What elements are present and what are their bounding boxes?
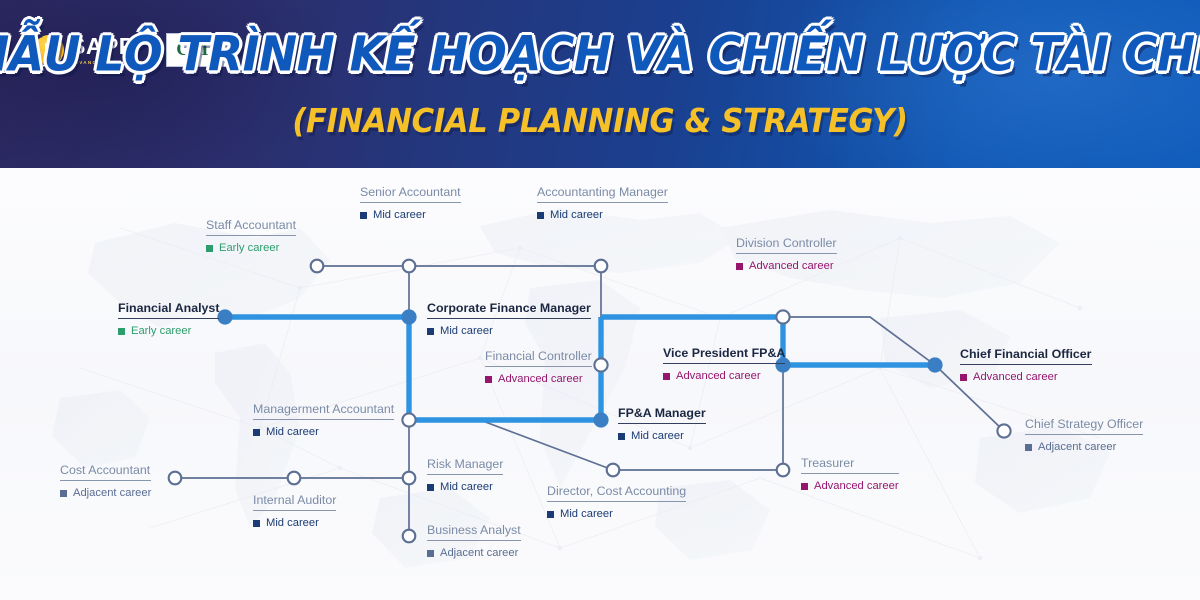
label-financial-analyst[interactable]: Financial Analyst Early career (118, 301, 219, 337)
page-subtitle: (FINANCIAL PLANNING & STRATEGY) (0, 102, 1200, 141)
node-director-cost-accounting[interactable] (607, 464, 620, 477)
edge-division-controller-to-cfo (783, 317, 935, 365)
node-managerment-accountant[interactable] (402, 413, 415, 426)
label-business-analyst[interactable]: Business Analyst Adjacent career (427, 523, 521, 559)
node-division-controller[interactable] (776, 310, 789, 323)
node-chief-financial-officer[interactable] (927, 357, 942, 372)
tier-swatch-mid (427, 484, 434, 491)
label-fpa-manager[interactable]: FP&A Manager Mid career (618, 406, 706, 442)
node-internal-auditor[interactable] (288, 472, 301, 485)
label-treasurer[interactable]: Treasurer Advanced career (801, 456, 899, 492)
label-vice-president-fpa[interactable]: Vice President FP&A Advanced career (663, 346, 785, 382)
tier-swatch-mid (360, 212, 367, 219)
tier-swatch-mid (547, 511, 554, 518)
tier-swatch-mid (537, 212, 544, 219)
page-header: SAPP ADVANCE YOUR CAREER CMA® MẪU LỘ TRÌ… (0, 0, 1200, 168)
tier-swatch-advanced (736, 263, 743, 270)
label-staff-accountant[interactable]: Staff Accountant Early career (206, 218, 296, 254)
label-director-cost-accounting[interactable]: Director, Cost Accounting Mid career (547, 484, 686, 520)
node-cost-accountant[interactable] (169, 472, 182, 485)
title-block: MẪU LỘ TRÌNH KẾ HOẠCH VÀ CHIẾN LƯỢC TÀI … (0, 30, 1200, 139)
tier-swatch-advanced (801, 483, 808, 490)
tier-swatch-advanced (960, 374, 967, 381)
tier-swatch-adjacent (427, 550, 434, 557)
tier-swatch-advanced (663, 373, 670, 380)
tier-swatch-early (118, 328, 125, 335)
label-chief-strategy-officer[interactable]: Chief Strategy Officer Adjacent career (1025, 417, 1143, 453)
tier-swatch-mid (253, 429, 260, 436)
tier-swatch-mid (618, 433, 625, 440)
label-managerment-accountant[interactable]: Managerment Accountant Mid career (253, 402, 394, 438)
node-fpa-manager[interactable] (593, 412, 608, 427)
tier-swatch-advanced (485, 376, 492, 383)
label-corporate-finance-manager[interactable]: Corporate Finance Manager Mid career (427, 301, 591, 337)
node-business-analyst[interactable] (403, 530, 416, 543)
label-accountanting-manager[interactable]: Accountanting Manager Mid career (537, 185, 668, 221)
node-corporate-finance-manager[interactable] (401, 309, 416, 324)
label-risk-manager[interactable]: Risk Manager Mid career (427, 457, 503, 493)
tier-swatch-mid (427, 328, 434, 335)
label-financial-controller[interactable]: Financial Controller Advanced career (485, 349, 592, 385)
node-financial-analyst[interactable] (217, 309, 232, 324)
label-division-controller[interactable]: Division Controller Advanced career (736, 236, 837, 272)
node-staff-accountant[interactable] (311, 260, 324, 273)
label-chief-financial-officer[interactable]: Chief Financial Officer Advanced career (960, 347, 1092, 383)
label-senior-accountant[interactable]: Senior Accountant Mid career (360, 185, 461, 221)
roadmap-board: Staff Accountant Early career Senior Acc… (0, 168, 1200, 600)
page-title: MẪU LỘ TRÌNH KẾ HOẠCH VÀ CHIẾN LƯỢC TÀI … (0, 27, 1200, 83)
tier-swatch-early (206, 245, 213, 252)
node-accountanting-manager[interactable] (595, 260, 608, 273)
label-cost-accountant[interactable]: Cost Accountant Adjacent career (60, 463, 151, 499)
tier-swatch-mid (253, 520, 260, 527)
roadmap-connections (0, 168, 1200, 600)
node-treasurer[interactable] (777, 464, 790, 477)
label-internal-auditor[interactable]: Internal Auditor Mid career (253, 493, 336, 529)
tier-swatch-adjacent (60, 490, 67, 497)
tier-swatch-adjacent (1025, 444, 1032, 451)
node-financial-controller[interactable] (594, 358, 607, 371)
node-risk-manager[interactable] (403, 472, 416, 485)
node-chief-strategy-officer[interactable] (997, 424, 1010, 437)
node-senior-accountant[interactable] (403, 260, 416, 273)
career-roadmap-page: SAPP ADVANCE YOUR CAREER CMA® MẪU LỘ TRÌ… (0, 0, 1200, 600)
